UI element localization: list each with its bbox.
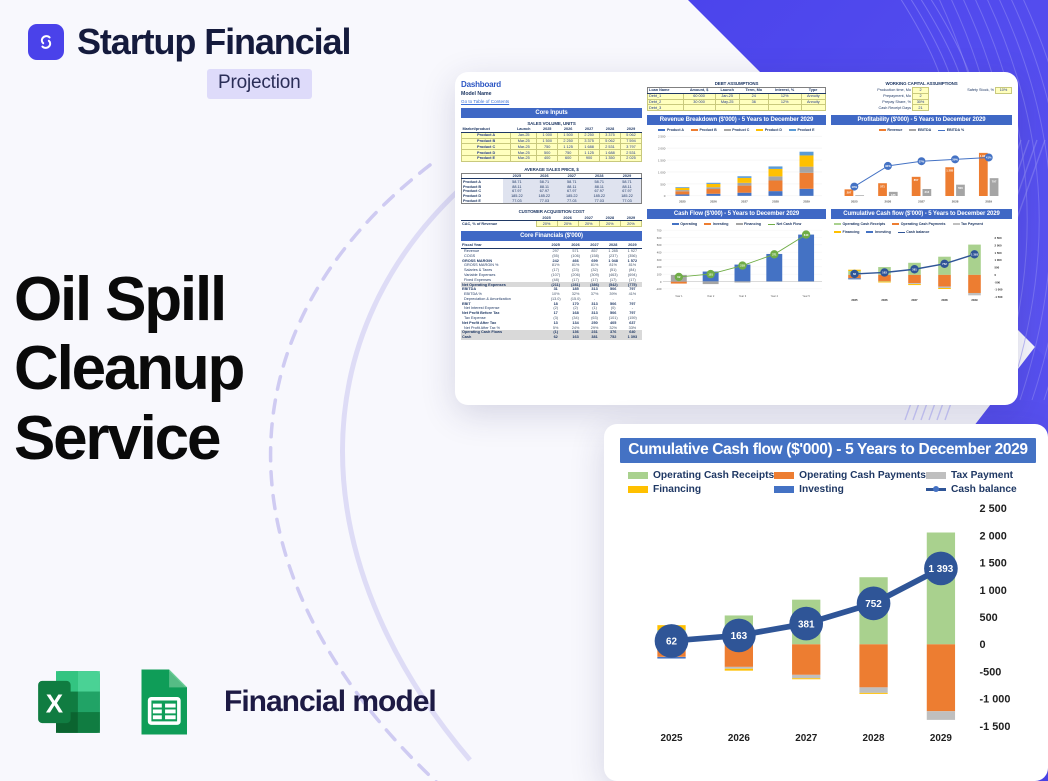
cell-loan-name[interactable]: Debt_3 — [648, 105, 684, 111]
page-title: Oil Spill Cleanup Service — [14, 265, 344, 473]
sales-volume-caption: SALES VOLUME, UNITS — [461, 120, 642, 127]
svg-text:Year 3: Year 3 — [739, 294, 747, 298]
svg-text:-500: -500 — [995, 280, 1001, 284]
svg-text:1 500: 1 500 — [995, 251, 1002, 255]
svg-text:2028: 2028 — [772, 199, 779, 203]
cac-table: 2025 2026 2027 2028 2029 CAC, % of Reven… — [461, 215, 642, 227]
dashboard-column-wc-charts: WORKING CAPITAL ASSUMPTIONS Production t… — [831, 80, 1012, 340]
cell-value: 77.03 — [503, 199, 530, 204]
dashboard-preview-card: Dashboard Model Name Go to Table of Cont… — [455, 72, 1018, 405]
legend-item: Product E — [789, 128, 814, 132]
table-row: Debt_3 — [648, 105, 826, 111]
legend-item: Product D — [756, 128, 782, 132]
legend-item: Cash balance — [898, 230, 930, 234]
legend-item: Operating Cash Receipts — [834, 222, 885, 226]
cashflow-chart: -1000100200300400500600700Year 1Year 2Ye… — [647, 227, 826, 299]
cell-product-name: Product E — [462, 199, 504, 204]
cell-type[interactable] — [801, 105, 825, 111]
svg-text:10%: 10% — [851, 185, 857, 189]
svg-text:2 000: 2 000 — [658, 147, 666, 151]
table-row: Cash621633817521 393 — [461, 335, 642, 340]
svg-text:218: 218 — [740, 264, 745, 268]
cell-value: 752 — [604, 335, 623, 340]
legend-item: Tax Payment — [953, 222, 983, 226]
legend-item: EBITDA % — [938, 128, 964, 132]
svg-text:857: 857 — [914, 178, 919, 182]
svg-text:2028: 2028 — [952, 200, 959, 204]
cell-value: 77.03 — [531, 199, 558, 204]
legend-item: Investing — [704, 222, 728, 226]
svg-text:2027: 2027 — [918, 200, 925, 204]
svg-text:300: 300 — [657, 258, 662, 262]
working-capital-table: Production time, Mo 2 Safety Stock, % 10… — [831, 87, 1012, 111]
svg-text:2025: 2025 — [851, 200, 858, 204]
svg-text:2 000: 2 000 — [980, 530, 1007, 542]
svg-text:100: 100 — [657, 273, 662, 277]
svg-text:2028: 2028 — [941, 298, 948, 302]
svg-text:X: X — [46, 689, 64, 719]
table-row: Salaries & Taxes(17)(23)(32)(51)(84) — [461, 268, 642, 273]
svg-text:-1 000: -1 000 — [980, 694, 1011, 706]
financials-row-label: Cash — [461, 335, 546, 340]
svg-text:2 500: 2 500 — [995, 236, 1002, 240]
svg-text:0: 0 — [664, 194, 666, 198]
svg-text:163: 163 — [882, 271, 887, 275]
cumulative-mini-title: Cumulative Cash flow ($'000) - 5 Years t… — [831, 209, 1012, 219]
svg-text:1 500: 1 500 — [980, 558, 1007, 570]
svg-text:371: 371 — [772, 253, 777, 257]
svg-text:1 500: 1 500 — [658, 159, 666, 163]
svg-text:571: 571 — [880, 185, 885, 189]
legend-item: Product B — [691, 128, 717, 132]
legend-item: Net Cash Flow — [768, 222, 801, 226]
cell-value[interactable]: 20% — [536, 221, 557, 227]
core-financials-table: Fiscal Year 2025 2026 2027 2028 2029 Rev… — [461, 243, 642, 340]
cell-value: 1 393 — [623, 335, 642, 340]
table-row: GROSS MARGIN %81%81%81%81%81% — [461, 263, 642, 268]
svg-text:2 000: 2 000 — [995, 244, 1002, 248]
svg-text:Year 2: Year 2 — [707, 294, 715, 298]
table-row: Cash Receipt Days 21 — [831, 105, 1012, 111]
wc-value[interactable]: 21 — [913, 105, 929, 111]
svg-text:2027: 2027 — [911, 298, 918, 302]
svg-text:1 000: 1 000 — [980, 585, 1007, 597]
svg-text:2029: 2029 — [930, 733, 953, 744]
svg-text:62: 62 — [853, 272, 857, 276]
svg-text:185: 185 — [891, 193, 896, 197]
average-price-table: 2025 2026 2027 2028 2029 Product A 58.71… — [461, 173, 642, 205]
svg-text:500: 500 — [660, 182, 665, 186]
cumulative-chart-plot: 2 5002 0001 5001 0005000-500-1 000-1 500… — [620, 501, 1036, 753]
legend-item-cash-balance: Cash balance — [926, 484, 1034, 495]
profitability-title: Profitability ($'000) - 5 Years to Decem… — [831, 115, 1012, 125]
svg-text:163: 163 — [731, 631, 748, 642]
svg-text:0: 0 — [660, 280, 662, 284]
dashboard-column-inputs: Dashboard Model Name Go to Table of Cont… — [461, 80, 642, 340]
svg-text:0: 0 — [980, 639, 986, 651]
svg-text:381: 381 — [912, 267, 917, 271]
svg-text:31: 31 — [858, 197, 862, 201]
svg-text:500: 500 — [980, 612, 998, 624]
table-row: Net Operating Expenses(211)(281)(386)(54… — [461, 282, 642, 287]
cell-value[interactable]: 1 350 — [600, 155, 621, 161]
brand-name: Startup Financial — [77, 24, 350, 60]
brand-row: Startup Financial — [28, 24, 350, 60]
svg-text:297: 297 — [847, 191, 852, 195]
svg-text:1 000: 1 000 — [995, 258, 1002, 262]
cell-term[interactable] — [739, 105, 768, 111]
legend-item: EBITDA — [909, 128, 931, 132]
svg-text:2026: 2026 — [885, 200, 892, 204]
svg-text:Year 4: Year 4 — [771, 294, 779, 298]
svg-text:Year 1: Year 1 — [675, 294, 683, 298]
legend-item: Financing — [736, 222, 761, 226]
sales-volume-table: Market/product Launch 2025 2026 2027 202… — [461, 127, 642, 162]
legend-item: Operating — [672, 222, 697, 226]
svg-text:41%: 41% — [986, 156, 992, 160]
dashboard-title: Dashboard — [461, 80, 642, 89]
cac-label: CAC, % of Revenue — [461, 221, 536, 227]
table-row: Product E Mar-25 400 600 900 1 350 2 025 — [462, 155, 642, 161]
cell-value: 77.03 — [613, 199, 641, 204]
svg-text:1 393: 1 393 — [929, 564, 954, 575]
legend-item: Operating Cash Payments — [892, 222, 945, 226]
avg-price-caption: AVERAGE SALES PRICE, $ — [461, 166, 642, 173]
legend-item-investing: Investing — [774, 484, 926, 495]
svg-text:2026: 2026 — [728, 733, 751, 744]
cell-value[interactable]: 2 025 — [620, 155, 641, 161]
dashboard-column-debt-charts: DEBT ASSUMPTIONS Loan Name Amount, $ Lau… — [647, 80, 826, 340]
core-inputs-band: Core Inputs — [461, 108, 642, 118]
legend-item-operating-cash-receipts: Operating Cash Receipts — [628, 470, 774, 481]
dashboard-grid: Dashboard Model Name Go to Table of Cont… — [461, 80, 1012, 340]
cumulative-cashflow-card: Cumulative Cash flow ($'000) - 5 Years t… — [604, 424, 1048, 781]
svg-text:32%: 32% — [885, 164, 891, 168]
legend-item: Investing — [866, 230, 890, 234]
filetype-label: Financial model — [224, 685, 436, 719]
microsoft-excel-icon: X — [30, 663, 108, 741]
cell-value: 62 — [546, 335, 566, 340]
svg-text:313: 313 — [925, 190, 930, 194]
table-row: Product E 77.03 77.03 77.03 77.03 77.03 — [462, 199, 642, 204]
legend-item: Product C — [724, 128, 750, 132]
filetype-row: X Financial model — [30, 663, 436, 741]
svg-text:2029: 2029 — [803, 199, 810, 203]
svg-text:500: 500 — [657, 243, 662, 247]
cell-value[interactable]: 20% — [620, 221, 641, 227]
svg-text:62: 62 — [666, 637, 678, 648]
svg-text:2028: 2028 — [863, 733, 886, 744]
svg-text:62: 62 — [677, 275, 681, 279]
legend-item: Financing — [834, 230, 859, 234]
svg-text:1 285: 1 285 — [946, 169, 953, 173]
legend-item: Product A — [658, 128, 684, 132]
table-row: CAC, % of Revenue 20% 20% 20% 20% 20% — [461, 221, 642, 227]
legend-item: Revenue — [879, 128, 902, 132]
svg-text:752: 752 — [865, 599, 882, 610]
svg-text:2027: 2027 — [795, 733, 818, 744]
table-of-contents-link[interactable]: Go to Table of Contents — [461, 99, 642, 104]
core-financials-band: Core Financials ($'000) — [461, 231, 642, 241]
svg-text:2027: 2027 — [741, 199, 748, 203]
svg-text:500: 500 — [995, 266, 1000, 270]
svg-text:-100: -100 — [656, 287, 662, 291]
cumulative-chart-legend: Operating Cash Receipts Operating Cash P… — [628, 470, 1034, 495]
model-name-label: Model Name — [461, 91, 642, 97]
cell-value[interactable]: 20% — [599, 221, 620, 227]
google-sheets-icon — [122, 663, 200, 741]
svg-text:2029: 2029 — [971, 298, 978, 302]
legend-item-financing: Financing — [628, 484, 774, 495]
cell-value: 77.03 — [586, 199, 613, 204]
cell-value[interactable]: 400 — [537, 155, 558, 161]
svg-text:400: 400 — [657, 251, 662, 255]
cell-value: 381 — [585, 335, 603, 340]
svg-text:2025: 2025 — [660, 733, 683, 744]
svg-text:200: 200 — [657, 265, 662, 269]
revenue-breakdown-title: Revenue Breakdown ($'000) - 5 Years to D… — [647, 115, 826, 125]
svg-text:0: 0 — [995, 273, 997, 277]
profitability-chart: 297312025571185202685731320271 285506202… — [831, 133, 1012, 205]
svg-text:2026: 2026 — [881, 298, 888, 302]
cell-launch[interactable]: Mar-25 — [511, 155, 537, 161]
cell-value: 77.03 — [558, 199, 585, 204]
legend-item-operating-cash-payments: Operating Cash Payments — [774, 470, 926, 481]
table-row: Fixed Expenses(48)(17)(17)(17)(17) — [461, 277, 642, 282]
wc-label: Cash Receipt Days — [831, 105, 913, 111]
svg-text:797: 797 — [992, 179, 997, 183]
svg-text:2025: 2025 — [851, 298, 858, 302]
svg-text:381: 381 — [798, 619, 815, 630]
cell-value: 163 — [566, 335, 586, 340]
svg-text:39%: 39% — [952, 158, 958, 162]
cell-value[interactable]: 900 — [579, 155, 600, 161]
svg-text:-1 000: -1 000 — [995, 288, 1003, 292]
cell-product-name[interactable]: Product E — [462, 155, 511, 161]
svg-text:2025: 2025 — [679, 199, 686, 203]
svg-text:-500: -500 — [980, 666, 1002, 678]
spiral-logo-icon — [28, 24, 64, 60]
svg-text:Year 5: Year 5 — [802, 294, 810, 298]
cell-value[interactable]: 600 — [558, 155, 579, 161]
svg-text:700: 700 — [657, 229, 662, 233]
svg-text:2029: 2029 — [985, 200, 992, 204]
debt-table: Loan Name Amount, $ Launch Term, Mo Inte… — [647, 87, 826, 111]
svg-text:600: 600 — [657, 236, 662, 240]
svg-text:1 393: 1 393 — [971, 253, 978, 257]
working-capital-caption: WORKING CAPITAL ASSUMPTIONS — [831, 80, 1012, 87]
cell-amount[interactable] — [683, 105, 715, 111]
svg-text:101: 101 — [708, 272, 713, 276]
cumulative-chart-title: Cumulative Cash flow ($'000) - 5 Years t… — [620, 438, 1036, 463]
svg-text:-1 500: -1 500 — [980, 721, 1011, 733]
svg-text:640: 640 — [804, 233, 809, 237]
cac-caption: CUSTOMER ACQUISITION COST — [461, 208, 642, 215]
debt-caption: DEBT ASSUMPTIONS — [647, 80, 826, 87]
svg-text:506: 506 — [958, 186, 963, 190]
cell-launch[interactable] — [715, 105, 739, 111]
cashflow-title: Cash Flow ($'000) - 5 Years to December … — [647, 209, 826, 219]
svg-text:1 000: 1 000 — [658, 171, 666, 175]
svg-text:37%: 37% — [919, 160, 925, 164]
revenue-breakdown-chart: 05001 0001 5002 0002 5002025202620272028… — [647, 133, 826, 205]
cell-interest[interactable] — [768, 105, 801, 111]
cumulative-mini-legend: Operating Cash Receipts Operating Cash P… — [831, 221, 1012, 235]
legend-item-tax-payment: Tax Payment — [926, 470, 1034, 481]
brand-subtitle: Projection — [207, 69, 312, 99]
svg-text:2 500: 2 500 — [980, 503, 1007, 515]
table-row: Variable Expenses(107)(206)(309)(463)(69… — [461, 273, 642, 278]
svg-text:-1 500: -1 500 — [995, 295, 1003, 299]
cell-value[interactable]: 20% — [557, 221, 578, 227]
svg-text:752: 752 — [942, 262, 947, 266]
svg-text:2 500: 2 500 — [658, 135, 666, 139]
brand-logo: Startup Financial Projection — [28, 24, 350, 99]
cell-value[interactable]: 20% — [578, 221, 599, 227]
cumulative-mini-chart: 2 5002 0001 5001 0005000-500-1 000-1 500… — [831, 235, 1012, 307]
svg-text:2026: 2026 — [710, 199, 717, 203]
